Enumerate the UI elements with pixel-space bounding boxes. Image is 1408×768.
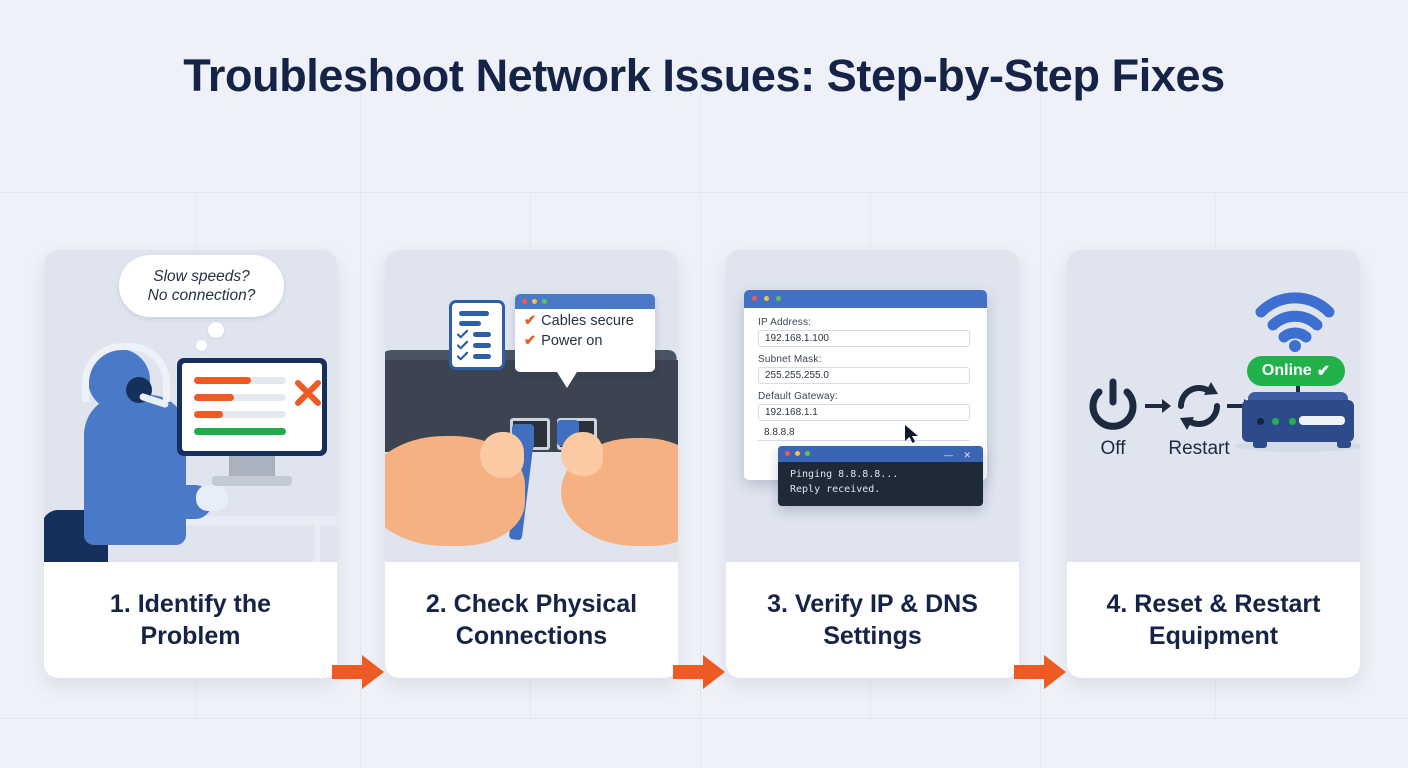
connector-arrow-3 <box>1014 655 1066 689</box>
status-badge: Online ✔ <box>1247 356 1345 386</box>
monitor-screen <box>182 363 322 451</box>
subnet-mask-field[interactable]: 255.255.255.0 <box>758 367 970 384</box>
popup-tail <box>557 372 577 388</box>
default-gateway-label: Default Gateway: <box>758 391 838 402</box>
screen-bar-fill <box>194 394 234 401</box>
steps-container: Slow speeds? No connection? 1. Identify … <box>0 250 1408 680</box>
router-led <box>1257 418 1264 425</box>
checklist-popup: ✔ Cables secure ✔ Power on <box>515 294 655 372</box>
step-card-4: Off Restart <box>1067 250 1360 678</box>
restart-arrows-icon <box>1171 378 1227 434</box>
ip-address-field[interactable]: 192.168.1.100 <box>758 330 970 347</box>
clipboard-checklist-icon <box>449 300 505 370</box>
terminal-window-controls[interactable]: — ✕ <box>944 450 975 461</box>
desk-leg <box>314 525 320 562</box>
window-minimize-dot[interactable] <box>764 296 769 301</box>
thought-bubble-line-1: Slow speeds? <box>153 267 250 286</box>
arrow-right-icon <box>1145 398 1171 414</box>
monitor-stand <box>229 456 275 478</box>
router-foot <box>1337 442 1351 448</box>
default-gateway-field[interactable]: 192.168.1.1 <box>758 404 970 421</box>
step-card-3: IP Address: 192.168.1.100 Subnet Mask: 2… <box>726 250 1019 678</box>
person-body <box>84 395 186 545</box>
terminal-output: Pinging 8.8.8.8... Reply received. <box>778 462 983 497</box>
power-off-icon <box>1085 378 1141 434</box>
check-icon: ✔ <box>524 313 536 329</box>
thumb-left <box>480 432 524 478</box>
thumb-right <box>561 432 603 476</box>
dialog-titlebar <box>744 290 987 308</box>
checklist-item-label: Power on <box>541 333 602 349</box>
check-icon: ✔ <box>524 333 536 349</box>
step-2-caption: 2. Check Physical Connections <box>385 562 678 678</box>
checklist-item: ✔ Cables secure <box>515 309 655 329</box>
checklist-item-label: Cables secure <box>541 313 634 329</box>
router-slot <box>1299 416 1345 425</box>
screen-bar-fill <box>194 411 223 418</box>
router-foot <box>1253 442 1267 448</box>
step-1-caption: 1. Identify the Problem <box>44 562 337 678</box>
router-led <box>1289 418 1296 425</box>
page-title: Troubleshoot Network Issues: Step-by-Ste… <box>0 50 1408 102</box>
router-led <box>1272 418 1279 425</box>
terminal-titlebar: — ✕ <box>778 446 983 462</box>
subnet-mask-label: Subnet Mask: <box>758 354 822 365</box>
connector-arrow-1 <box>332 655 384 689</box>
ip-address-label: IP Address: <box>758 317 811 328</box>
step-restart-label: Restart <box>1154 438 1244 460</box>
grid-line-horizontal <box>0 718 1408 719</box>
thought-dot-small <box>196 340 207 351</box>
step-3-caption: 3. Verify IP & DNS Settings <box>726 562 1019 678</box>
wifi-signal-icon <box>1255 290 1335 352</box>
terminal-window: — ✕ Pinging 8.8.8.8... Reply received. <box>778 446 983 506</box>
window-maximize-dot[interactable] <box>542 299 547 304</box>
step-1-illustration: Slow speeds? No connection? <box>44 250 337 562</box>
monitor <box>177 358 327 456</box>
window-maximize-dot[interactable] <box>805 451 810 456</box>
grid-line-horizontal <box>0 192 1408 193</box>
dns-field[interactable]: 8.8.8.8 <box>758 424 970 441</box>
window-maximize-dot[interactable] <box>776 296 781 301</box>
screen-bar-fill <box>194 428 286 435</box>
window-minimize-dot[interactable] <box>795 451 800 456</box>
connector-arrow-2 <box>673 655 725 689</box>
thought-dot-large <box>208 322 224 338</box>
mouse-pointer-icon <box>904 424 920 444</box>
monitor-base <box>212 476 292 486</box>
status-badge-label: Online <box>1262 362 1312 380</box>
screen-bar-fill <box>194 377 251 384</box>
thought-bubble-line-2: No connection? <box>148 286 256 305</box>
terminal-line-1: Pinging 8.8.8.8... <box>790 468 983 483</box>
step-3-illustration: IP Address: 192.168.1.100 Subnet Mask: 2… <box>726 250 1019 562</box>
window-close-dot[interactable] <box>522 299 527 304</box>
check-icon: ✔ <box>1317 361 1330 381</box>
step-2-illustration: ✔ Cables secure ✔ Power on <box>385 250 678 562</box>
step-4-illustration: Off Restart <box>1067 250 1360 562</box>
window-close-dot[interactable] <box>785 451 790 456</box>
step-off-label: Off <box>1068 438 1158 460</box>
person-hand <box>196 485 228 511</box>
step-card-1: Slow speeds? No connection? 1. Identify … <box>44 250 337 678</box>
step-4-caption: 4. Reset & Restart Equipment <box>1067 562 1360 678</box>
window-close-dot[interactable] <box>752 296 757 301</box>
terminal-line-2: Reply received. <box>790 483 983 498</box>
popup-titlebar <box>515 294 655 309</box>
step-card-2: ✔ Cables secure ✔ Power on 2. Check Phys… <box>385 250 678 678</box>
thought-bubble: Slow speeds? No connection? <box>119 255 284 317</box>
x-mark-icon <box>294 379 322 407</box>
window-minimize-dot[interactable] <box>532 299 537 304</box>
checklist-item: ✔ Power on <box>515 329 655 349</box>
